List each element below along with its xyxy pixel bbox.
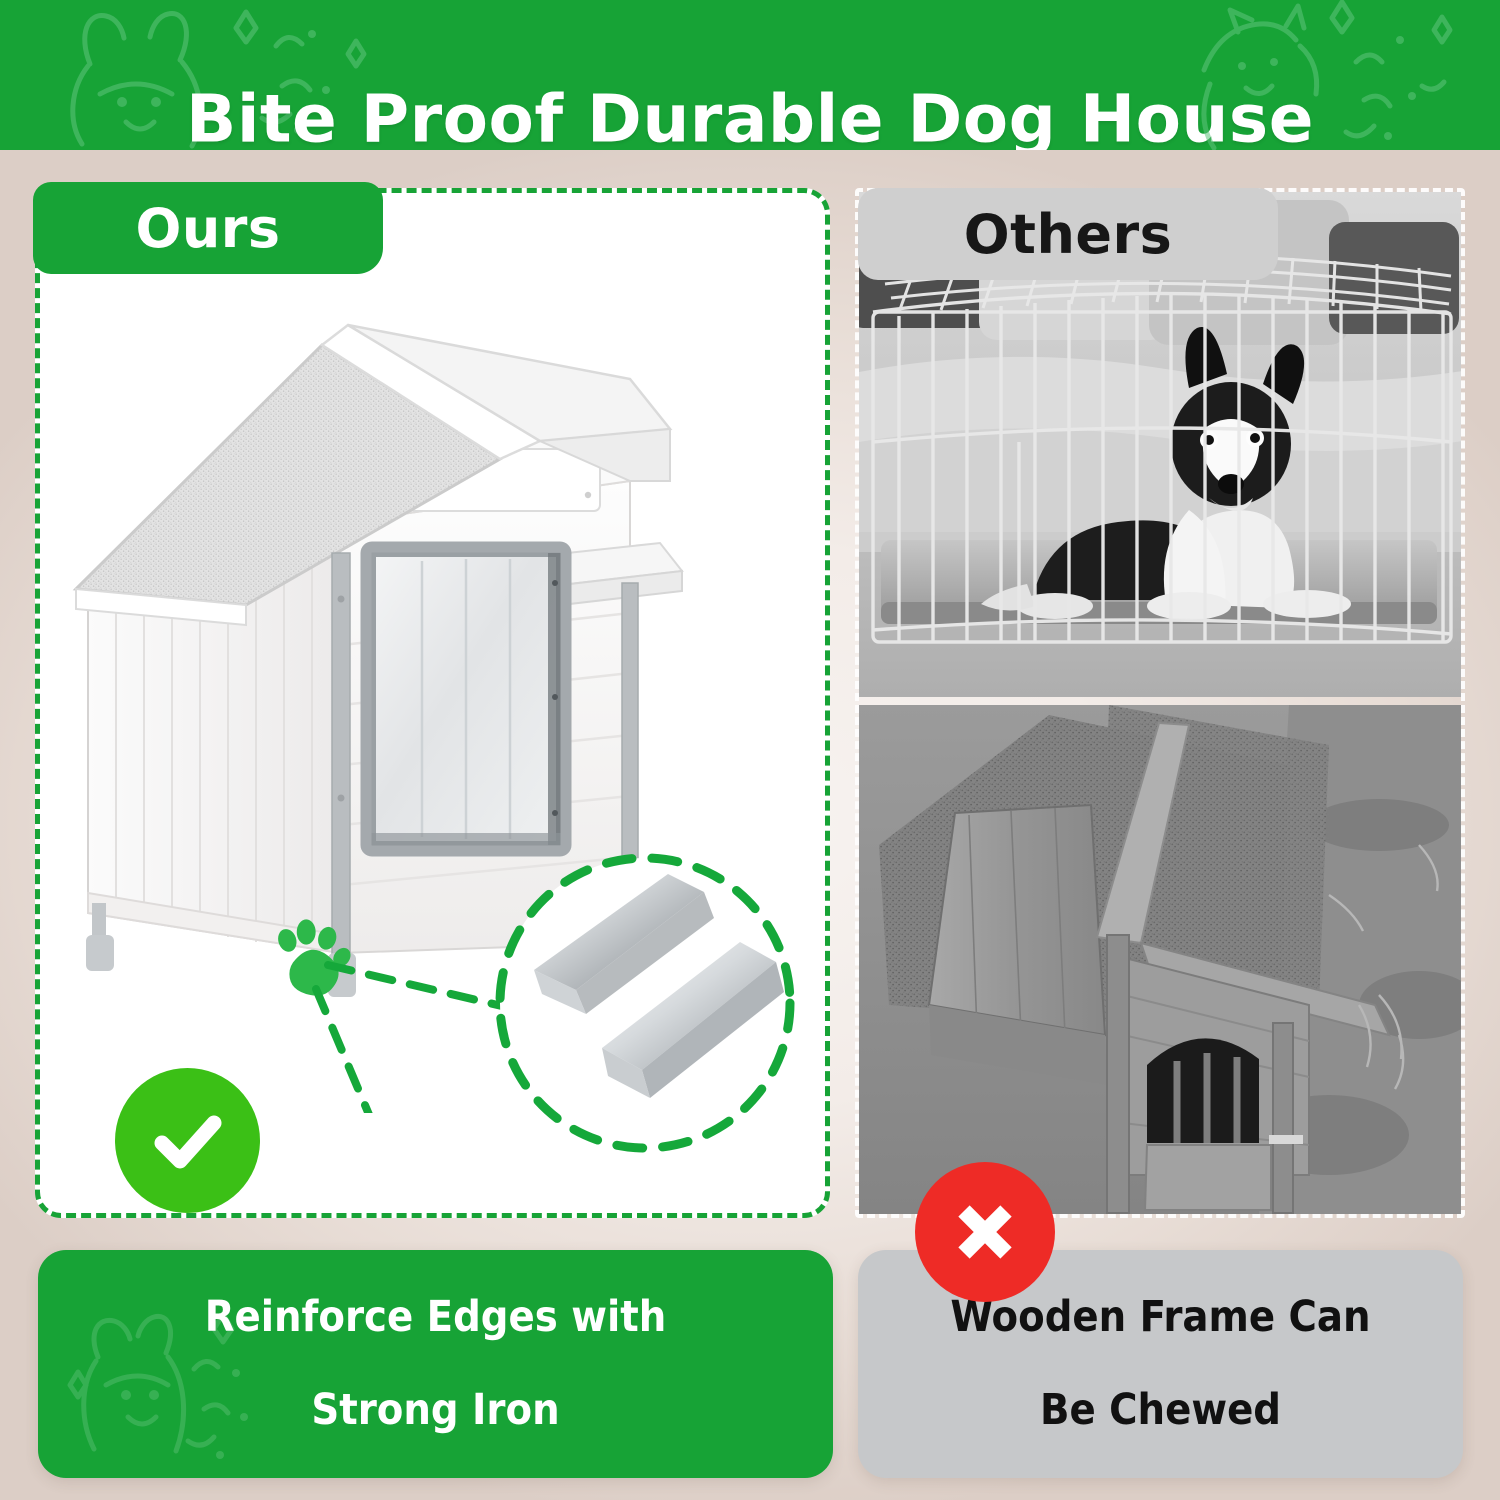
others-tab-label: Others <box>858 188 1278 280</box>
ours-caption-line2: Strong Iron <box>311 1388 559 1433</box>
others-caption-line2: Be Chewed <box>1040 1388 1281 1433</box>
header-banner: Bite Proof Durable Dog House <box>0 0 1500 150</box>
iron-detail-callout <box>490 848 800 1158</box>
ours-tab-text: Ours <box>135 197 280 260</box>
others-panel <box>855 188 1465 1218</box>
x-badge <box>915 1162 1055 1302</box>
comparison-stage: Ours <box>0 150 1500 1500</box>
ours-panel <box>35 188 830 1218</box>
others-caption-line1: Wooden Frame Can <box>950 1295 1370 1340</box>
ours-tab-label: Ours <box>33 182 383 274</box>
dog-door <box>368 549 564 849</box>
check-badge <box>115 1068 260 1213</box>
others-tab-text: Others <box>964 203 1173 266</box>
page-title: Bite Proof Durable Dog House <box>0 81 1500 150</box>
ours-caption-box: Reinforce Edges with Strong Iron <box>38 1250 833 1478</box>
ours-caption-line1: Reinforce Edges with <box>205 1295 667 1340</box>
photo-wooden-dog-house <box>859 705 1461 1214</box>
